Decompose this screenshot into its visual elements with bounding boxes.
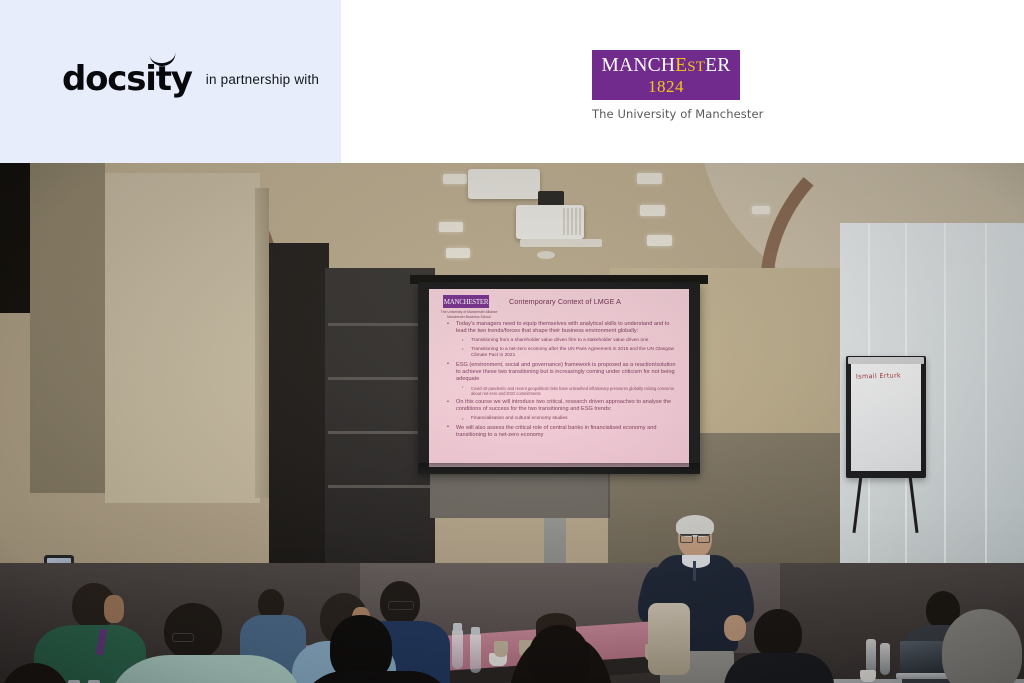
- uom-strapline: The University of Manchester: [592, 107, 742, 121]
- flipchart-easel: Ismail Erturk: [846, 356, 926, 478]
- presentation-slide: MANCHESTER The University of Manchester …: [429, 289, 689, 467]
- ceiling-light: [443, 174, 467, 184]
- shelf-line: [328, 485, 432, 488]
- shelf-line: [328, 323, 432, 326]
- chair[interactable]: [648, 603, 690, 675]
- presenter-shirt-placket: [693, 561, 696, 581]
- slide-logo-strapline: The University of Manchester Alliance Ma…: [439, 310, 499, 319]
- water-bottle-cap: [453, 623, 462, 631]
- projector-shelf: [520, 239, 602, 247]
- flipchart-clamp: [848, 357, 924, 364]
- ceiling-light: [640, 205, 665, 216]
- docsity-brand-block: docsity in partnership with: [62, 62, 319, 96]
- slide-bullet: Transitioning from a shareholder value d…: [445, 338, 681, 344]
- projection-screen: MANCHESTER The University of Manchester …: [418, 282, 700, 474]
- slide-bullet-list: Today's managers need to equip themselve…: [445, 321, 681, 442]
- laptop-keyboard[interactable]: [896, 673, 950, 679]
- uom-wordmark: MANCHESTER: [602, 56, 731, 77]
- ceiling-light: [446, 248, 470, 258]
- attendee-peach-blazer-head: [528, 625, 590, 683]
- flipchart-leg: [852, 475, 862, 533]
- paper-cup: [494, 641, 508, 657]
- docsity-wordmark: docsity: [62, 59, 192, 99]
- slide-uom-logo: MANCHESTER: [443, 295, 489, 308]
- ceiling-light: [439, 222, 463, 232]
- attendee-green-polo-face: [104, 595, 124, 623]
- uom-wordmark-part2: ER: [705, 55, 730, 76]
- lecture-room-photograph: MANCHESTER The University of Manchester …: [0, 163, 1024, 683]
- water-bottle: [452, 629, 463, 669]
- slide-title: Contemporary Context of LMGE A: [509, 297, 621, 306]
- ceiling-light: [637, 173, 662, 184]
- attendee-mint-shirt-glasses-icon: [172, 633, 194, 642]
- flipchart-legs: [850, 475, 920, 535]
- water-bottle: [866, 639, 876, 673]
- slide-bullet: Transitioning to a net-zero economy afte…: [445, 347, 681, 360]
- attendee-dark-suit-right-head: [754, 609, 802, 659]
- university-of-manchester-logo: MANCHESTER 1824 The University of Manche…: [592, 50, 742, 121]
- screen-shadow: [418, 463, 700, 477]
- presenter-hand-right: [724, 615, 746, 641]
- uom-year: 1824: [648, 78, 684, 95]
- slide-bullet: On this course we will introduce two cri…: [445, 399, 681, 413]
- slide-bullet: We will also assess the critical role of…: [445, 425, 681, 439]
- laptop-screen[interactable]: [900, 641, 944, 673]
- uom-purple-mark: MANCHESTER 1824: [592, 50, 740, 100]
- attendee-navy-polo-glasses-icon: [388, 601, 414, 610]
- slide-bullet: Today's managers need to equip themselve…: [445, 321, 681, 335]
- slide-bullet: Covid-19 pandemic and recent geopolitica…: [445, 386, 681, 397]
- water-bottle: [880, 643, 890, 675]
- presenter-glasses-icon: [680, 534, 710, 541]
- water-bottle-cap: [471, 627, 480, 635]
- uom-wordmark-gold-e: E: [675, 55, 687, 76]
- attendee-mint-shirt-head: [164, 603, 222, 659]
- wall-edge-left: [255, 188, 269, 498]
- water-bottle: [470, 633, 481, 673]
- attendee-dark-suit-right-body: [724, 653, 834, 683]
- ceiling-light: [647, 235, 672, 246]
- slide-bullet: Financialisation and cultural economy st…: [445, 416, 681, 422]
- projector-vent-grille: [563, 208, 581, 235]
- partnership-label: in partnership with: [206, 72, 319, 87]
- wall-panel-left: [105, 173, 260, 503]
- shelf-line: [328, 431, 432, 434]
- flipchart-writing: Ismail Erturk: [856, 371, 901, 380]
- doorway-left[interactable]: [269, 243, 329, 573]
- slide-logo-text: MANCHESTER: [444, 298, 488, 306]
- presenter-collar: [682, 555, 710, 568]
- partnership-banner: docsity in partnership with MANCHESTER 1…: [0, 0, 1024, 163]
- ceiling-air-vent-icon: [468, 169, 540, 199]
- docsity-logo: docsity: [62, 62, 192, 96]
- slide-canvas: docsity in partnership with MANCHESTER 1…: [0, 0, 1024, 683]
- slide-bullet: ESG (environment, social and governance)…: [445, 362, 681, 384]
- smoke-detector-icon: [537, 251, 555, 259]
- shelf-line: [328, 377, 432, 380]
- coffee-cup: [860, 670, 876, 682]
- flipchart-leg: [908, 475, 918, 533]
- uom-wordmark-gold-st: ST: [687, 59, 705, 75]
- wall-column-left: [30, 163, 105, 493]
- uom-wordmark-part1: MANCH: [602, 55, 676, 76]
- ceiling-light: [752, 206, 770, 214]
